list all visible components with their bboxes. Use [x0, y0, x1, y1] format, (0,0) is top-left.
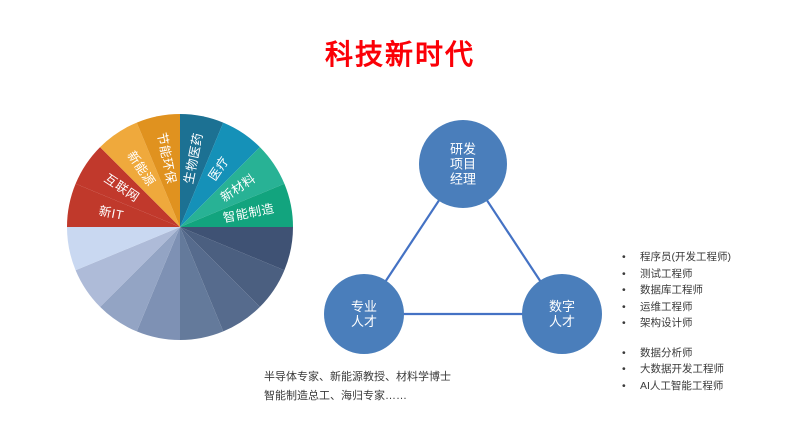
list-item[interactable]: •程序员(开发工程师) — [618, 249, 793, 266]
bullet-icon: • — [622, 249, 626, 266]
bullet-icon: • — [622, 282, 626, 299]
page-title: 科技新时代 — [0, 38, 800, 72]
list-item-label: 程序员(开发工程师) — [640, 251, 731, 263]
node-right-label-line-2: 人才 — [549, 314, 575, 329]
node-right-label-line-1: 数字 — [549, 299, 575, 314]
talent-triangle-diagram: 研发项目经理专业人才数字人才 — [318, 112, 608, 352]
node-left-label-line-2: 人才 — [351, 314, 377, 329]
triangle-edge-top-right — [486, 199, 541, 282]
list-item-label: 数据库工程师 — [640, 284, 703, 296]
list-item[interactable]: •大数据开发工程师 — [618, 361, 793, 378]
professional-talent-roles: •程序员(开发工程师)•测试工程师•数据库工程师•运维工程师•架构设计师 — [618, 249, 793, 332]
list-item[interactable]: •数据分析师 — [618, 345, 793, 362]
list-item-label: AI人工智能工程师 — [640, 380, 723, 392]
node-left-label-line-1: 专业 — [351, 299, 377, 314]
pie-sector-group — [67, 114, 293, 340]
digital-talent-roles: •数据分析师•大数据开发工程师•AI人工智能工程师 — [618, 345, 793, 395]
node-top-label-line-3: 经理 — [450, 172, 476, 187]
bullet-icon: • — [622, 266, 626, 283]
slide-canvas: 科技新时代 生物医药医疗新材料智能制造新IT互联网新能源节能环保 研发项目经理专… — [0, 0, 800, 443]
triangle-svg: 研发项目经理专业人才数字人才 — [318, 112, 608, 352]
bullet-icon: • — [622, 315, 626, 332]
list-item[interactable]: •运维工程师 — [618, 299, 793, 316]
list-item-label: 架构设计师 — [640, 317, 693, 329]
caption-line-1: 半导体专家、新能源教授、材料学博士 — [264, 368, 564, 387]
bullet-icon: • — [622, 378, 626, 395]
list-item[interactable]: •测试工程师 — [618, 266, 793, 283]
list-item-label: 数据分析师 — [640, 347, 693, 359]
list-item[interactable]: •数据库工程师 — [618, 282, 793, 299]
node-top-label-line-1: 研发 — [450, 142, 476, 157]
list-item[interactable]: •AI人工智能工程师 — [618, 378, 793, 395]
node-top-label-line-2: 项目 — [450, 157, 476, 172]
list-item-label: 测试工程师 — [640, 268, 693, 280]
list-item[interactable]: •架构设计师 — [618, 315, 793, 332]
role-lists: •程序员(开发工程师)•测试工程师•数据库工程师•运维工程师•架构设计师•数据分… — [618, 249, 793, 394]
talent-caption: 半导体专家、新能源教授、材料学博士 智能制造总工、海归专家…… — [264, 368, 564, 406]
caption-line-2: 智能制造总工、海归专家…… — [264, 387, 564, 406]
list-item-label: 大数据开发工程师 — [640, 363, 724, 375]
triangle-edge-top-left — [385, 199, 440, 282]
bullet-icon: • — [622, 345, 626, 362]
list-item-label: 运维工程师 — [640, 301, 693, 313]
bullet-icon: • — [622, 299, 626, 316]
industry-sector-pie-chart: 生物医药医疗新材料智能制造新IT互联网新能源节能环保 — [65, 112, 295, 342]
pie-svg: 生物医药医疗新材料智能制造新IT互联网新能源节能环保 — [65, 112, 295, 342]
bullet-icon: • — [622, 361, 626, 378]
triangle-nodes: 研发项目经理专业人才数字人才 — [324, 120, 602, 354]
triangle-edges — [385, 199, 541, 314]
